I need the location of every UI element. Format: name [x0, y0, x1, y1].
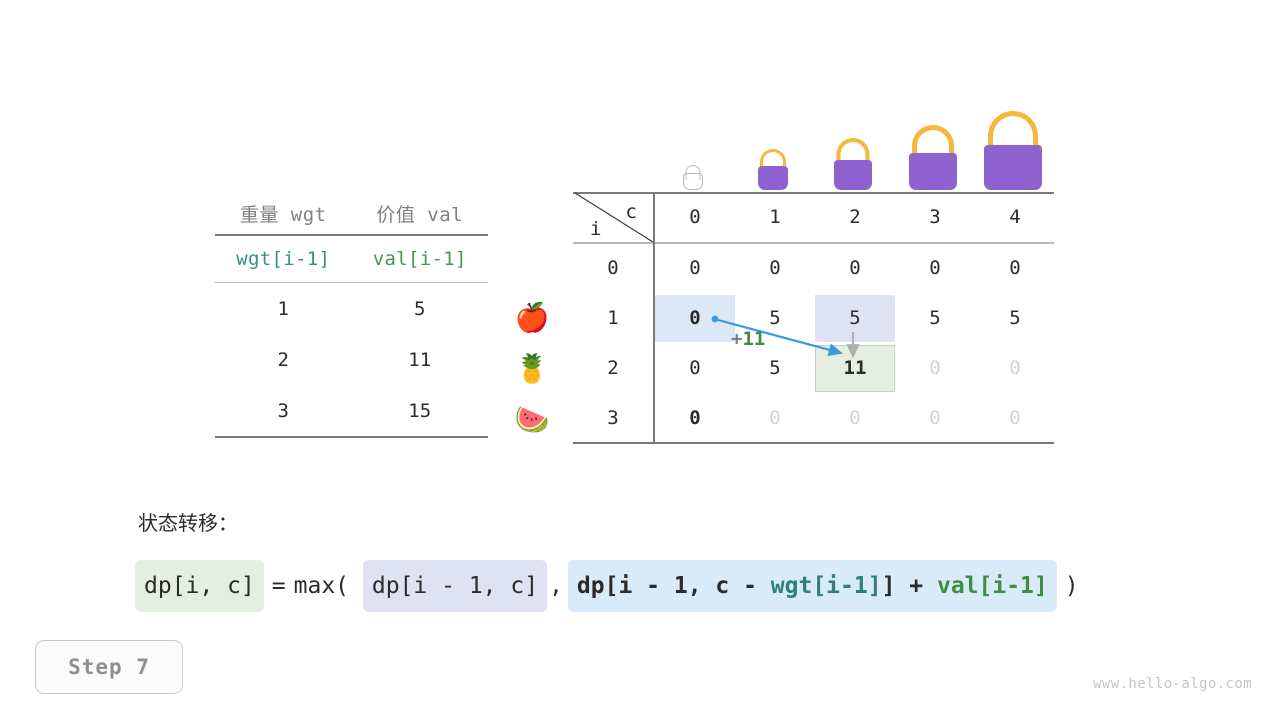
item-value: 5: [352, 283, 489, 335]
item-weight: 1: [215, 283, 352, 335]
dp-table-corner-cell: c i: [573, 192, 655, 243]
bag-icon-capacity-3: [893, 120, 973, 190]
items-header-weight: 重量 wgt: [215, 192, 352, 234]
bag-icon-capacity-0: [653, 120, 733, 190]
items-subheader-row: wgt[i-1] val[i-1]: [215, 235, 488, 282]
dp-cell-i3-c1: 0: [735, 393, 815, 444]
handbag-icon: [684, 167, 702, 190]
dp-cell-i1-c3: 5: [895, 293, 975, 344]
items-rule-bottom: [215, 436, 488, 437]
dp-col-header-1: 1: [735, 192, 815, 243]
formula-option-take-mid: ] +: [882, 573, 937, 599]
dp-cell-i0-c3: 0: [895, 243, 975, 294]
handbag-body: [909, 153, 957, 190]
state-transition-label: 状态转移：: [138, 507, 238, 536]
formula-max-open: max(: [294, 573, 349, 599]
dp-cell-i1-c2: 5: [815, 293, 895, 344]
dp-cell-i2-c4: 0: [975, 343, 1055, 394]
dp-col-header-4: 4: [975, 192, 1055, 243]
state-transition-formula: dp[i, c]=max( dp[i - 1, c],dp[i - 1, c -…: [135, 560, 1079, 612]
gain-value: 11: [742, 328, 765, 350]
dp-cell-i2-c2: 11: [815, 343, 895, 394]
handbag-body: [758, 166, 788, 190]
formula-option-take-prefix: dp[i - 1, c -: [577, 573, 771, 599]
formula-comma: ,: [547, 573, 568, 599]
items-table-header-row: 重量 wgt 价值 val: [215, 192, 488, 234]
formula-option-take-val: val[i-1]: [937, 573, 1048, 599]
item-value: 11: [352, 334, 489, 385]
handbag-icon: [834, 143, 872, 190]
formula-equals: =: [264, 573, 294, 599]
formula-option-take: dp[i - 1, c - wgt[i-1]] + val[i-1]: [568, 560, 1057, 612]
bag-icon-capacity-4: [973, 120, 1053, 190]
dp-cell-i0-c2: 0: [815, 243, 895, 294]
item-weight: 2: [215, 334, 352, 385]
dp-cell-i2-c3: 0: [895, 343, 975, 394]
item-weight: 3: [215, 385, 352, 436]
dp-cell-i0-c1: 0: [735, 243, 815, 294]
dp-cell-i1-c4: 5: [975, 293, 1055, 344]
handbag-icon: [984, 117, 1042, 190]
step-badge: Step 7: [35, 640, 183, 694]
handbag-body: [984, 145, 1042, 190]
gain-label: +11: [731, 328, 765, 350]
dp-row-header-2: 2: [573, 343, 653, 394]
formula-option-take-wgt: wgt[i-1]: [771, 573, 882, 599]
dp-cell-i2-c0: 0: [655, 343, 735, 394]
bag-icon-capacity-2: [813, 120, 893, 190]
dp-col-header-3: 3: [895, 192, 975, 243]
pineapple-emoji-icon: 🍍: [508, 343, 556, 394]
dp-table: c i 000000555505110000000 +11 012340123: [573, 192, 1054, 444]
formula-target: dp[i, c]: [135, 560, 264, 612]
knapsack-capacity-icons: [653, 120, 1053, 190]
items-header-value: 价值 val: [352, 192, 489, 234]
gain-sign: +: [731, 328, 742, 350]
apple-emoji-icon: 🍎: [508, 292, 556, 343]
dp-cell-i2-c1: 5: [735, 343, 815, 394]
items-subheader-wgt: wgt[i-1]: [215, 235, 352, 282]
dp-corner-label-i: i: [590, 218, 601, 240]
items-row: 3 15: [215, 385, 488, 436]
dp-cell-i3-c0: 0: [655, 393, 735, 444]
bag-icon-capacity-1: [733, 120, 813, 190]
dp-col-header-0: 0: [655, 192, 735, 243]
dp-cell-i3-c3: 0: [895, 393, 975, 444]
formula-option-skip: dp[i - 1, c]: [363, 560, 547, 612]
item-value: 15: [352, 385, 489, 436]
dp-cell-i0-c0: 0: [655, 243, 735, 294]
dp-corner-label-c: c: [626, 201, 637, 223]
dp-col-header-2: 2: [815, 192, 895, 243]
items-row: 1 5: [215, 283, 488, 335]
handbag-body: [834, 160, 872, 190]
handbag-icon: [758, 153, 788, 190]
items-subheader-val: val[i-1]: [352, 235, 489, 282]
dp-cell-i0-c4: 0: [975, 243, 1055, 294]
dp-cell-i3-c4: 0: [975, 393, 1055, 444]
items-table: 重量 wgt 价值 val wgt[i-1] val[i-1] 1 5 2 11…: [215, 192, 488, 438]
dp-row-header-3: 3: [573, 393, 653, 444]
formula-space-1: [349, 573, 363, 599]
dp-row-header-1: 1: [573, 293, 653, 344]
watermark: www.hello-algo.com: [1093, 676, 1252, 692]
formula-close-paren: ): [1057, 573, 1079, 599]
dp-row-header-0: 0: [573, 243, 653, 294]
handbag-body: [683, 173, 703, 190]
dp-cell-i3-c2: 0: [815, 393, 895, 444]
fruit-icon-column: 🍎 🍍 🍉: [508, 292, 556, 445]
items-row: 2 11: [215, 334, 488, 385]
corner-diagonal-icon: [573, 192, 655, 243]
watermelon-emoji-icon: 🍉: [508, 394, 556, 445]
handbag-icon: [909, 131, 957, 190]
dp-cell-i1-c0: 0: [655, 293, 735, 344]
